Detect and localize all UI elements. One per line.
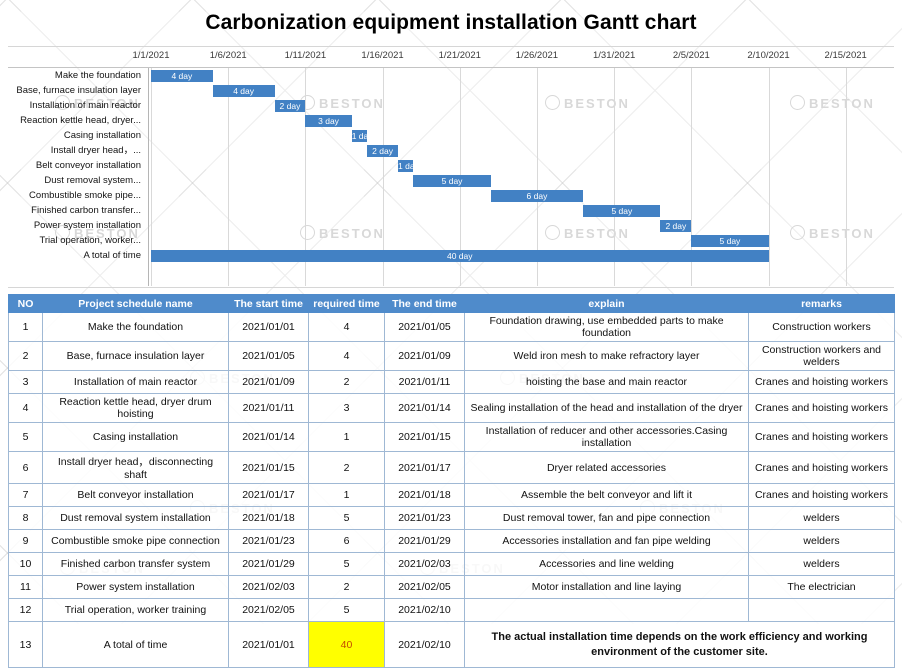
cell-remarks: Cranes and hoisting workers (749, 452, 895, 484)
cell-start-time: 2021/01/29 (229, 553, 309, 576)
column-header-start: The start time (229, 295, 309, 313)
gantt-bar-track: 5 day (151, 233, 892, 248)
cell-no: 5 (9, 423, 43, 452)
watermark-cross (895, 515, 902, 624)
gantt-bar-track: 1 day (151, 158, 892, 173)
cell-project-name: Base, furnace insulation layer (43, 342, 229, 371)
gantt-bar[interactable]: 4 day (151, 70, 213, 82)
cell-required-time: 5 (309, 599, 385, 622)
cell-no: 4 (9, 394, 43, 423)
cell-project-name: Finished carbon transfer system (43, 553, 229, 576)
cell-end-time: 2021/02/10 (385, 599, 465, 622)
watermark-cross (895, 145, 902, 405)
gantt-axis: 1/1/20211/6/20211/11/20211/16/20211/21/2… (8, 47, 894, 68)
cell-explain: Foundation drawing, use embedded parts t… (465, 313, 749, 342)
gantt-task-label: Install dryer head，... (8, 143, 146, 158)
cell-required-time: 2 (309, 452, 385, 484)
table-row: 2Base, furnace insulation layer2021/01/0… (9, 342, 895, 371)
cell-no: 10 (9, 553, 43, 576)
gantt-bar-track: 40 day (151, 248, 892, 263)
cell-end-time: 2021/02/05 (385, 576, 465, 599)
cell-start-time: 2021/02/05 (229, 599, 309, 622)
table-row: 7Belt conveyor installation2021/01/17120… (9, 484, 895, 507)
cell-explain: Weld iron mesh to make refractory layer (465, 342, 749, 371)
gantt-axis-tick: 1/11/2021 (285, 50, 327, 61)
gantt-bar-track: 2 day (151, 143, 892, 158)
cell-end-time: 2021/01/18 (385, 484, 465, 507)
gantt-task-label: Dust removal system... (8, 173, 146, 188)
cell-end-time: 2021/01/05 (385, 313, 465, 342)
gantt-axis-tick: 1/26/2021 (516, 50, 558, 61)
gantt-bar-track: 2 day (151, 218, 892, 233)
cell-no: 6 (9, 452, 43, 484)
cell-remarks: welders (749, 530, 895, 553)
cell-start-time: 2021/01/15 (229, 452, 309, 484)
gantt-task-label: Reaction kettle head, dryer... (8, 113, 146, 128)
gantt-bar-track: 6 day (151, 188, 892, 203)
cell-no: 2 (9, 342, 43, 371)
cell-start-time: 2021/01/11 (229, 394, 309, 423)
cell-remarks: welders (749, 507, 895, 530)
gantt-plot-area: Make the foundationBase, furnace insulat… (8, 68, 894, 286)
cell-required-time: 4 (309, 342, 385, 371)
gantt-bar[interactable]: 5 day (413, 175, 490, 187)
cell-required-time: 5 (309, 507, 385, 530)
table-header-row: NO Project schedule name The start time … (9, 295, 895, 313)
cell-explain: Sealing installation of the head and ins… (465, 394, 749, 423)
gantt-bar-track: 5 day (151, 173, 892, 188)
cell-project-name: Install dryer head，disconnecting shaft (43, 452, 229, 484)
gantt-axis-tick: 1/1/2021 (133, 50, 170, 61)
cell-remarks: Cranes and hoisting workers (749, 394, 895, 423)
table-row: 8Dust removal system installation2021/01… (9, 507, 895, 530)
gantt-bar-track: 4 day (151, 68, 892, 83)
cell-explain: Installation of reducer and other access… (465, 423, 749, 452)
gantt-task-label: Trial operation, worker... (8, 233, 146, 248)
cell-required-time: 2 (309, 576, 385, 599)
cell-remarks (749, 599, 895, 622)
cell-start-time: 2021/01/01 (229, 622, 309, 668)
cell-no: 9 (9, 530, 43, 553)
cell-start-time: 2021/01/18 (229, 507, 309, 530)
gantt-task-label: Belt conveyor installation (8, 158, 146, 173)
gantt-bars-area: 4 day4 day2 day3 day1 day2 day1 day5 day… (151, 68, 892, 286)
column-header-no: NO (9, 295, 43, 313)
gantt-bar-track: 5 day (151, 203, 892, 218)
cell-explain (465, 599, 749, 622)
gantt-axis-tick: 2/5/2021 (673, 50, 710, 61)
cell-explain: Dust removal tower, fan and pipe connect… (465, 507, 749, 530)
gantt-axis-tick: 1/16/2021 (361, 50, 403, 61)
gantt-bar[interactable]: 40 day (151, 250, 769, 262)
cell-explain: Dryer related accessories (465, 452, 749, 484)
cell-project-name: Reaction kettle head, dryer drum hoistin… (43, 394, 229, 423)
project-schedule-table: NO Project schedule name The start time … (8, 294, 895, 668)
cell-end-time: 2021/02/03 (385, 553, 465, 576)
cell-remarks: Construction workers and welders (749, 342, 895, 371)
table-row: 13A total of time2021/01/01402021/02/10T… (9, 622, 895, 668)
page-title: Carbonization equipment installation Gan… (205, 11, 696, 35)
watermark-cross (895, 330, 902, 590)
gantt-bar[interactable]: 1 day (398, 160, 413, 172)
gantt-bar[interactable]: 2 day (367, 145, 398, 157)
cell-project-name: Power system installation (43, 576, 229, 599)
cell-remarks: Cranes and hoisting workers (749, 484, 895, 507)
cell-end-time: 2021/01/14 (385, 394, 465, 423)
gantt-bar[interactable]: 1 day (352, 130, 367, 142)
gantt-bar[interactable]: 4 day (213, 85, 275, 97)
cell-end-time: 2021/02/10 (385, 622, 465, 668)
gantt-axis-tick: 1/21/2021 (439, 50, 481, 61)
table-row: 11Power system installation2021/02/03220… (9, 576, 895, 599)
cell-project-name: A total of time (43, 622, 229, 668)
cell-remarks: The electrician (749, 576, 895, 599)
gantt-task-label: Make the foundation (8, 68, 146, 83)
cell-project-name: Casing installation (43, 423, 229, 452)
gantt-gridline (148, 68, 149, 286)
gantt-bar-track: 2 day (151, 98, 892, 113)
cell-project-name: Installation of main reactor (43, 371, 229, 394)
cell-explain: hoisting the base and main reactor (465, 371, 749, 394)
cell-end-time: 2021/01/11 (385, 371, 465, 394)
gantt-task-labels: Make the foundationBase, furnace insulat… (8, 68, 146, 286)
page-title-bar: Carbonization equipment installation Gan… (0, 0, 902, 46)
table-row: 9Combustible smoke pipe connection2021/0… (9, 530, 895, 553)
gantt-axis-tick: 1/6/2021 (210, 50, 247, 61)
table-row: 1Make the foundation2021/01/0142021/01/0… (9, 313, 895, 342)
cell-no: 12 (9, 599, 43, 622)
gantt-bar-track: 1 day (151, 128, 892, 143)
cell-start-time: 2021/01/23 (229, 530, 309, 553)
cell-no: 11 (9, 576, 43, 599)
cell-no: 8 (9, 507, 43, 530)
cell-start-time: 2021/01/05 (229, 342, 309, 371)
cell-project-name: Combustible smoke pipe connection (43, 530, 229, 553)
cell-start-time: 2021/01/14 (229, 423, 309, 452)
cell-explain: Accessories and line welding (465, 553, 749, 576)
cell-required-time: 1 (309, 484, 385, 507)
gantt-axis-tick: 1/31/2021 (593, 50, 635, 61)
cell-project-name: Belt conveyor installation (43, 484, 229, 507)
table-row: 10Finished carbon transfer system2021/01… (9, 553, 895, 576)
gantt-task-label: Installation of main reactor (8, 98, 146, 113)
cell-end-time: 2021/01/23 (385, 507, 465, 530)
gantt-chart: 1/1/20211/6/20211/11/20211/16/20211/21/2… (8, 46, 894, 288)
column-header-end: The end time (385, 295, 465, 313)
cell-end-time: 2021/01/15 (385, 423, 465, 452)
cell-no: 7 (9, 484, 43, 507)
cell-remarks: Construction workers (749, 313, 895, 342)
table-row: 6Install dryer head，disconnecting shaft2… (9, 452, 895, 484)
column-header-name: Project schedule name (43, 295, 229, 313)
table-row: 3Installation of main reactor2021/01/092… (9, 371, 895, 394)
cell-start-time: 2021/01/09 (229, 371, 309, 394)
gantt-axis-tick: 2/10/2021 (747, 50, 789, 61)
cell-project-name: Make the foundation (43, 313, 229, 342)
cell-remarks: Cranes and hoisting workers (749, 423, 895, 452)
cell-explain: Motor installation and line laying (465, 576, 749, 599)
gantt-bar-track: 4 day (151, 83, 892, 98)
gantt-task-label: Base, furnace insulation layer (8, 83, 146, 98)
cell-required-time: 4 (309, 313, 385, 342)
cell-explain: Accessories installation and fan pipe we… (465, 530, 749, 553)
cell-no: 1 (9, 313, 43, 342)
table-row: 12Trial operation, worker training2021/0… (9, 599, 895, 622)
column-header-required: required time (309, 295, 385, 313)
cell-required-time: 6 (309, 530, 385, 553)
cell-required-time: 2 (309, 371, 385, 394)
cell-start-time: 2021/01/17 (229, 484, 309, 507)
table-body: 1Make the foundation2021/01/0142021/01/0… (9, 313, 895, 668)
gantt-bar[interactable]: 6 day (491, 190, 584, 202)
gantt-axis-tick: 2/15/2021 (825, 50, 867, 61)
gantt-bar[interactable]: 2 day (275, 100, 306, 112)
gantt-task-label: A total of time (8, 248, 146, 263)
cell-required-time: 40 (309, 622, 385, 668)
cell-required-time: 1 (309, 423, 385, 452)
table-row: 5Casing installation2021/01/1412021/01/1… (9, 423, 895, 452)
cell-end-time: 2021/01/17 (385, 452, 465, 484)
cell-end-time: 2021/01/29 (385, 530, 465, 553)
gantt-bar[interactable]: 5 day (583, 205, 660, 217)
column-header-remarks: remarks (749, 295, 895, 313)
gantt-bar-track: 3 day (151, 113, 892, 128)
cell-explain: The actual installation time depends on … (465, 622, 895, 668)
cell-no: 13 (9, 622, 43, 668)
cell-remarks: Cranes and hoisting workers (749, 371, 895, 394)
gantt-bar[interactable]: 3 day (305, 115, 351, 127)
gantt-task-label: Combustible smoke pipe... (8, 188, 146, 203)
gantt-task-label: Finished carbon transfer... (8, 203, 146, 218)
gantt-bar[interactable]: 5 day (691, 235, 768, 247)
cell-explain: Assemble the belt conveyor and lift it (465, 484, 749, 507)
table-row: 4Reaction kettle head, dryer drum hoisti… (9, 394, 895, 423)
column-header-explain: explain (465, 295, 749, 313)
cell-required-time: 5 (309, 553, 385, 576)
cell-no: 3 (9, 371, 43, 394)
cell-start-time: 2021/01/01 (229, 313, 309, 342)
cell-start-time: 2021/02/03 (229, 576, 309, 599)
cell-project-name: Trial operation, worker training (43, 599, 229, 622)
cell-project-name: Dust removal system installation (43, 507, 229, 530)
gantt-task-label: Power system installation (8, 218, 146, 233)
cell-required-time: 3 (309, 394, 385, 423)
gantt-bar[interactable]: 2 day (660, 220, 691, 232)
cell-end-time: 2021/01/09 (385, 342, 465, 371)
gantt-task-label: Casing installation (8, 128, 146, 143)
cell-remarks: welders (749, 553, 895, 576)
